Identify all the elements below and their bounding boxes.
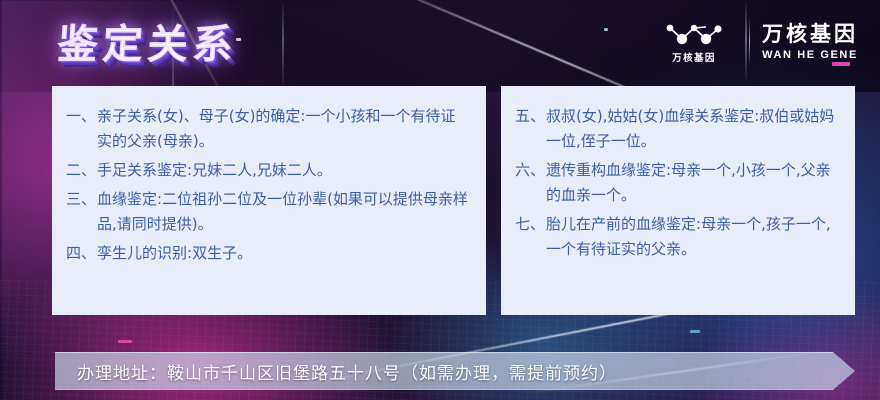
list-item-text: 胎儿在产前的血缘鉴定:母亲一个,孩子一个,一个有待证实的父亲。 <box>546 212 839 262</box>
poster-canvas: 鉴定关系 万核基因 <box>0 0 880 400</box>
list-item-text: 叔叔(女),姑姑(女)血绿关系鉴定:叔伯或姑妈一位,侄子一位。 <box>546 104 839 154</box>
page-title: 鉴定关系 <box>56 12 240 70</box>
brand-name-block: 万核基因 WAN HE GENE <box>762 23 858 60</box>
brand-name-en: WAN HE GENE <box>762 49 858 61</box>
list-item: 一、 亲子关系(女)、母子(女)的确定:一个小孩和一个有待证实的父亲(母亲)。 <box>66 104 470 154</box>
molecule-icon <box>663 21 725 47</box>
address-text: 办理地址：鞍山市千山区旧堡路五十八号（如需办理，需提前预约） <box>55 359 617 384</box>
logo-mark-label: 万核基因 <box>672 50 716 64</box>
neon-speck-icon <box>118 340 132 343</box>
list-item: 三、 血缘鉴定:二位祖孙二位及一位孙辈(如果可以提供母亲样品,请同时提供)。 <box>66 187 470 237</box>
content-panel-left: 一、 亲子关系(女)、母子(女)的确定:一个小孩和一个有待证实的父亲(母亲)。 … <box>52 86 486 315</box>
list-item-text: 孪生儿的识别:双生子。 <box>97 241 470 266</box>
list-item: 四、 孪生儿的识别:双生子。 <box>66 241 470 266</box>
neon-speck-icon <box>690 330 700 333</box>
list-item-number: 七、 <box>515 212 546 237</box>
list-item-number: 一、 <box>66 104 97 129</box>
list-item-number: 五、 <box>515 104 546 129</box>
brand-logo[interactable]: 万核基因 万核基因 WAN HE GENE <box>651 16 858 68</box>
header: 鉴定关系 万核基因 <box>0 0 880 86</box>
logo-divider <box>749 20 750 64</box>
list-item-text: 亲子关系(女)、母子(女)的确定:一个小孩和一个有待证实的父亲(母亲)。 <box>97 104 470 154</box>
list-item: 六、 遗传重构血缘鉴定:母亲一个,小孩一个,父亲的血亲一个。 <box>515 158 839 208</box>
list-item-number: 四、 <box>66 241 97 266</box>
list-item-text: 遗传重构血缘鉴定:母亲一个,小孩一个,父亲的血亲一个。 <box>546 158 839 208</box>
list-item: 二、 手足关系鉴定:兄妹二人,兄妹二人。 <box>66 158 470 183</box>
list-item-number: 六、 <box>515 158 546 183</box>
logo-mark: 万核基因 <box>651 21 737 64</box>
list-item-number: 三、 <box>66 187 97 212</box>
list-item: 七、 胎儿在产前的血缘鉴定:母亲一个,孩子一个,一个有待证实的父亲。 <box>515 212 839 262</box>
address-bar: 办理地址：鞍山市千山区旧堡路五十八号（如需办理，需提前预约） <box>55 352 855 390</box>
list-item-text: 血缘鉴定:二位祖孙二位及一位孙辈(如果可以提供母亲样品,请同时提供)。 <box>97 187 470 237</box>
list-item-number: 二、 <box>66 158 97 183</box>
list-item: 五、 叔叔(女),姑姑(女)血绿关系鉴定:叔伯或姑妈一位,侄子一位。 <box>515 104 839 154</box>
content-panel-right: 五、 叔叔(女),姑姑(女)血绿关系鉴定:叔伯或姑妈一位,侄子一位。 六、 遗传… <box>501 86 855 315</box>
list-item-text: 手足关系鉴定:兄妹二人,兄妹二人。 <box>97 158 470 183</box>
brand-name-cn: 万核基因 <box>762 23 858 46</box>
